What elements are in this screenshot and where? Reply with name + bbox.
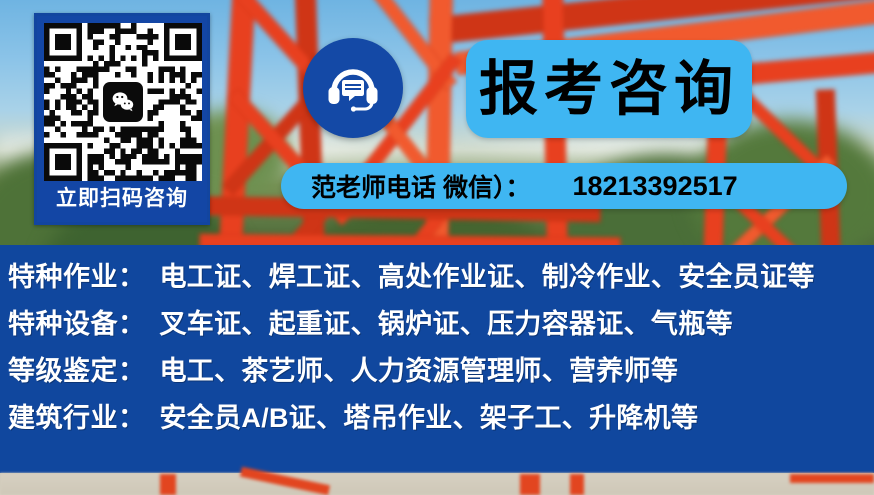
info-row: 特种作业： 电工证、焊工证、高处作业证、制冷作业、安全员证等 — [0, 255, 874, 302]
consult-cta-label: 报考咨询 — [479, 60, 739, 119]
info-row: 等级鉴定： 电工、茶艺师、人力资源管理师、营养师等 — [0, 349, 874, 396]
qr-code-card[interactable]: 立即扫码咨询 — [34, 13, 210, 225]
support-headset-button[interactable] — [303, 38, 403, 138]
info-row: 特种设备： 叉车证、起重证、锅炉证、压力容器证、气瓶等 — [0, 302, 874, 349]
qr-caption: 立即扫码咨询 — [37, 179, 207, 219]
strip-post — [520, 474, 540, 495]
info-category: 特种作业： — [8, 255, 146, 294]
crane-leg — [218, 0, 255, 270]
qr-code-image — [44, 23, 202, 181]
strip-post — [160, 474, 176, 495]
contact-label: 范老师电话 微信）： — [311, 168, 530, 204]
info-row: 建筑行业： 安全员A/B证、塔吊作业、架子工、升降机等 — [0, 396, 874, 443]
headset-support-icon — [322, 57, 384, 119]
strip-post — [790, 474, 874, 483]
bottom-photo-strip — [0, 473, 874, 495]
contact-number[interactable]: 18213392517 — [572, 171, 737, 202]
info-items: 电工、茶艺师、人力资源管理师、营养师等 — [160, 349, 679, 388]
promo-banner: 立即扫码咨询 报考咨询 范老师电话 微信）： 18213392517 — [0, 0, 874, 495]
info-items: 安全员A/B证、塔吊作业、架子工、升降机等 — [160, 396, 699, 435]
info-category: 建筑行业： — [8, 396, 146, 435]
info-category: 特种设备： — [8, 302, 146, 341]
wechat-icon — [103, 82, 143, 122]
certificate-info-band: 特种作业： 电工证、焊工证、高处作业证、制冷作业、安全员证等 特种设备： 叉车证… — [0, 245, 874, 473]
info-category: 等级鉴定： — [8, 349, 146, 388]
info-items: 叉车证、起重证、锅炉证、压力容器证、气瓶等 — [160, 302, 733, 341]
strip-post — [570, 474, 584, 495]
contact-phone-bar[interactable]: 范老师电话 微信）： 18213392517 — [281, 163, 847, 209]
consult-cta-button[interactable]: 报考咨询 — [466, 40, 752, 138]
info-items: 电工证、焊工证、高处作业证、制冷作业、安全员证等 — [160, 255, 815, 294]
